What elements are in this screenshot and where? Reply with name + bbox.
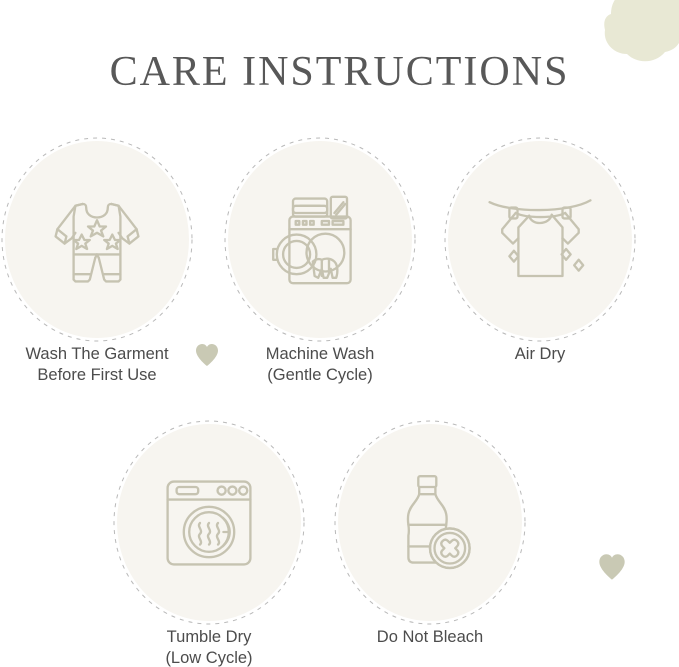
care-item-tumble-dry [117,424,301,621]
care-item-label: Tumble Dry (Low Cycle) [111,627,307,667]
heart-accent-1-icon [194,342,220,368]
care-item-label: Machine Wash (Gentle Cycle) [222,344,418,386]
washing-machine-with-laundry-icon [266,186,374,294]
tumble-dryer-heat-icon [155,469,263,577]
pajama-garment-with-stars-icon [43,186,151,294]
care-item-label: Do Not Bleach [332,627,528,648]
tshirt-on-clothesline-icon [486,186,594,294]
care-instructions-graphic: CARE INSTRUCTIONS [0,0,679,667]
care-item-machine-wash [228,141,412,338]
care-item-do-not-bleach [338,424,522,621]
care-item-air-dry [448,141,632,338]
page-title: CARE INSTRUCTIONS [0,48,679,96]
care-item-wash-before-first-use [5,141,189,338]
bleach-bottle-prohibited-icon [376,469,484,577]
heart-accent-2-icon [597,552,627,582]
care-item-label: Wash The Garment Before First Use [0,344,194,386]
care-item-label: Air Dry [442,344,638,365]
